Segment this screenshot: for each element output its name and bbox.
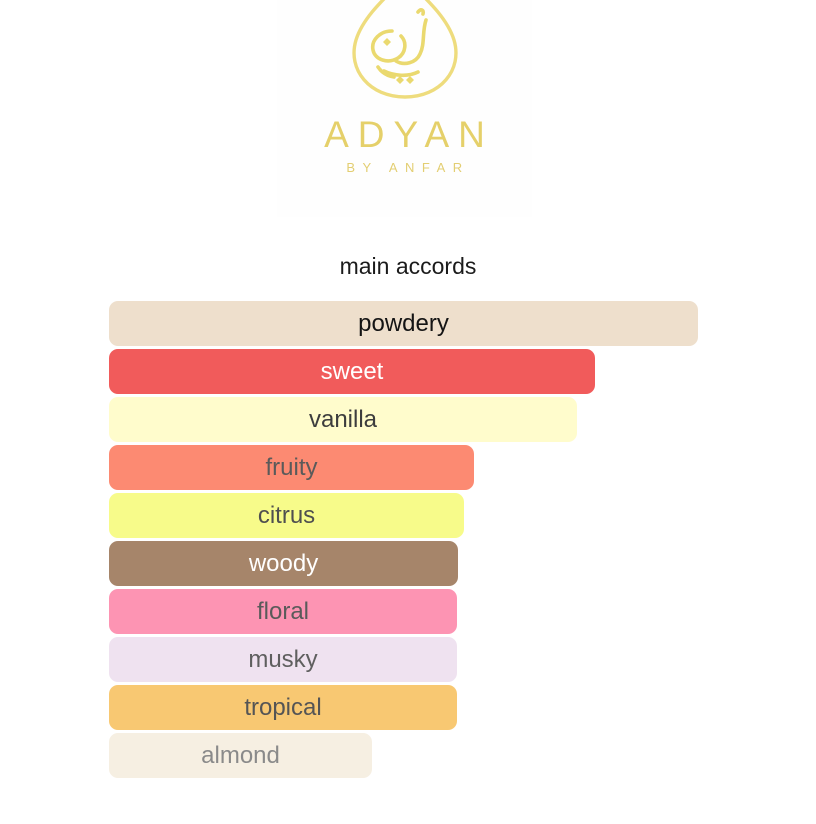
- brand-wordmark: ADYAN: [315, 116, 494, 153]
- accord-row: almond: [109, 733, 709, 781]
- adyan-teardrop-calligraphy-logo-icon: [330, 0, 480, 114]
- accord-row: sweet: [109, 349, 709, 397]
- accord-row: vanilla: [109, 397, 709, 445]
- accord-label: citrus: [258, 504, 315, 528]
- accord-bar-almond[interactable]: almond: [109, 733, 372, 778]
- brand-subwordmark: BY ANFAR: [339, 160, 469, 175]
- accord-bar-floral[interactable]: floral: [109, 589, 457, 634]
- accord-label: powdery: [358, 312, 449, 336]
- accord-label: floral: [257, 600, 309, 624]
- accord-label: vanilla: [309, 408, 377, 432]
- accord-row: floral: [109, 589, 709, 637]
- accord-bar-musky[interactable]: musky: [109, 637, 457, 682]
- brand-logo-block: ADYAN BY ANFAR: [277, 0, 532, 217]
- main-accords-chart: powderysweetvanillafruitycitruswoodyflor…: [109, 301, 709, 781]
- accord-row: musky: [109, 637, 709, 685]
- accord-bar-vanilla[interactable]: vanilla: [109, 397, 577, 442]
- accord-label: almond: [201, 744, 280, 768]
- accord-row: fruity: [109, 445, 709, 493]
- accord-row: woody: [109, 541, 709, 589]
- accord-bar-citrus[interactable]: citrus: [109, 493, 464, 538]
- accord-bar-tropical[interactable]: tropical: [109, 685, 457, 730]
- accord-label: tropical: [244, 696, 321, 720]
- accord-bar-fruity[interactable]: fruity: [109, 445, 474, 490]
- accord-bar-powdery[interactable]: powdery: [109, 301, 698, 346]
- accord-bar-sweet[interactable]: sweet: [109, 349, 595, 394]
- accord-row: powdery: [109, 301, 709, 349]
- accord-label: fruity: [265, 456, 317, 480]
- accord-bar-woody[interactable]: woody: [109, 541, 458, 586]
- accord-label: woody: [249, 552, 318, 576]
- accord-label: sweet: [321, 360, 384, 384]
- accord-label: musky: [248, 648, 317, 672]
- page-title: main accords: [0, 253, 816, 280]
- accord-row: citrus: [109, 493, 709, 541]
- accord-row: tropical: [109, 685, 709, 733]
